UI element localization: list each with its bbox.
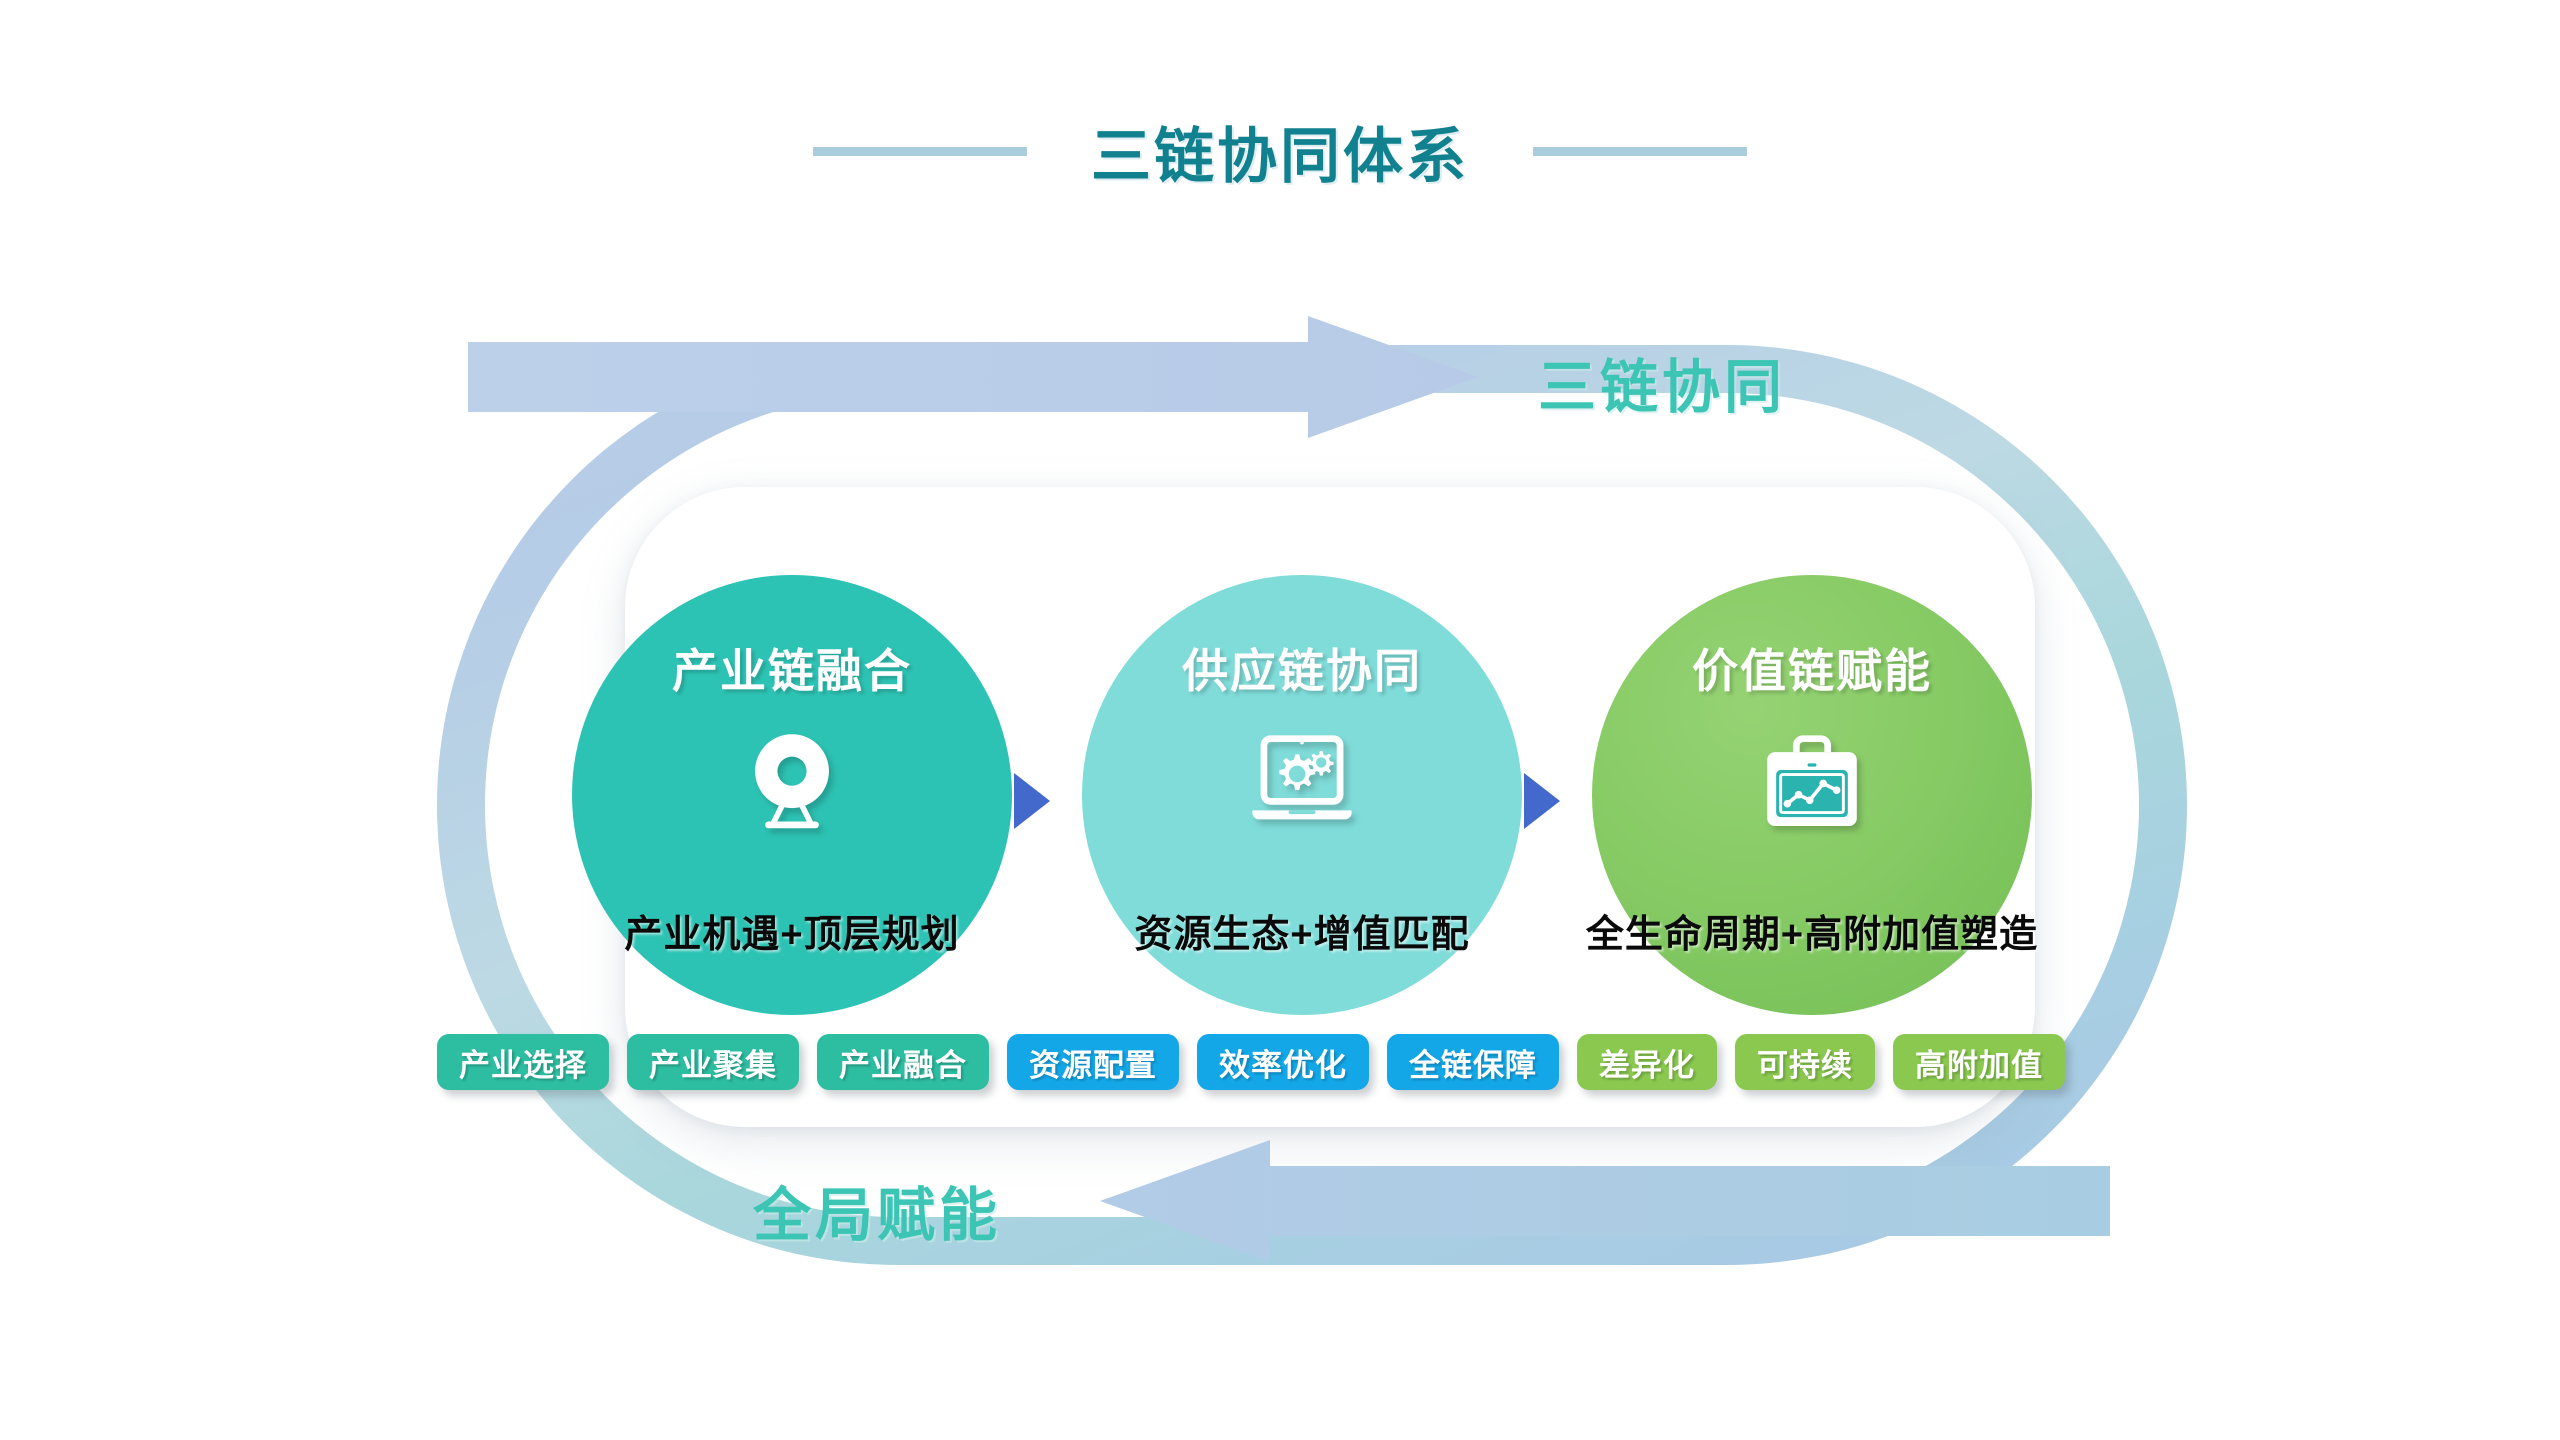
tag-chip[interactable]: 产业融合 bbox=[817, 1034, 989, 1090]
tag-chip[interactable]: 效率优化 bbox=[1197, 1034, 1369, 1090]
tag-chip[interactable]: 资源配置 bbox=[1007, 1034, 1179, 1090]
pillar-circle-value-chain[interactable]: 价值链赋能 全生命周期+高附加值塑造 bbox=[1592, 575, 2032, 1015]
title-rule-right bbox=[1533, 147, 1747, 156]
briefcase-chart-icon bbox=[1756, 723, 1868, 835]
capability-tag-row: 产业选择 产业聚集 产业融合 资源配置 效率优化 全链保障 差异化 可持续 高附… bbox=[437, 1034, 2177, 1090]
pillar-title: 价值链赋能 bbox=[1692, 635, 1932, 701]
bottom-flow-label: 全局赋能 bbox=[753, 1168, 1001, 1252]
pillar-title: 产业链融合 bbox=[672, 635, 912, 701]
top-flow-arrow-icon bbox=[468, 316, 1478, 438]
connector-triangle-1-icon bbox=[1014, 773, 1050, 829]
tag-chip[interactable]: 产业聚集 bbox=[627, 1034, 799, 1090]
pillar-circle-supply-chain[interactable]: 供应链协同 资源生态+增值匹配 bbox=[1082, 575, 1522, 1015]
pillar-title: 供应链协同 bbox=[1182, 635, 1422, 701]
connector-triangle-2-icon bbox=[1524, 773, 1560, 829]
pillar-subtitle: 资源生态+增值匹配 bbox=[1134, 903, 1469, 958]
tag-chip[interactable]: 差异化 bbox=[1577, 1034, 1717, 1090]
page-title-bar: 三链协同体系 bbox=[0, 108, 2560, 195]
pillar-circle-industry-chain[interactable]: 产业链融合 产业机遇+顶层规划 bbox=[572, 575, 1012, 1015]
pillar-subtitle: 全生命周期+高附加值塑造 bbox=[1586, 903, 2038, 958]
top-flow-label: 三链协同 bbox=[1538, 340, 1786, 424]
diagram-canvas: 三链协同体系 三链协同 全局赋能 产业链融合 bbox=[0, 0, 2560, 1440]
tag-chip[interactable]: 产业选择 bbox=[437, 1034, 609, 1090]
laptop-gears-icon bbox=[1246, 723, 1358, 835]
webcam-icon bbox=[736, 723, 848, 835]
tag-chip[interactable]: 高附加值 bbox=[1893, 1034, 2065, 1090]
bottom-flow-arrow-icon bbox=[1100, 1140, 2110, 1262]
pillar-subtitle: 产业机遇+顶层规划 bbox=[624, 903, 959, 958]
title-rule-left bbox=[813, 147, 1027, 156]
tag-chip[interactable]: 全链保障 bbox=[1387, 1034, 1559, 1090]
tag-chip[interactable]: 可持续 bbox=[1735, 1034, 1875, 1090]
page-title: 三链协同体系 bbox=[1091, 108, 1469, 195]
